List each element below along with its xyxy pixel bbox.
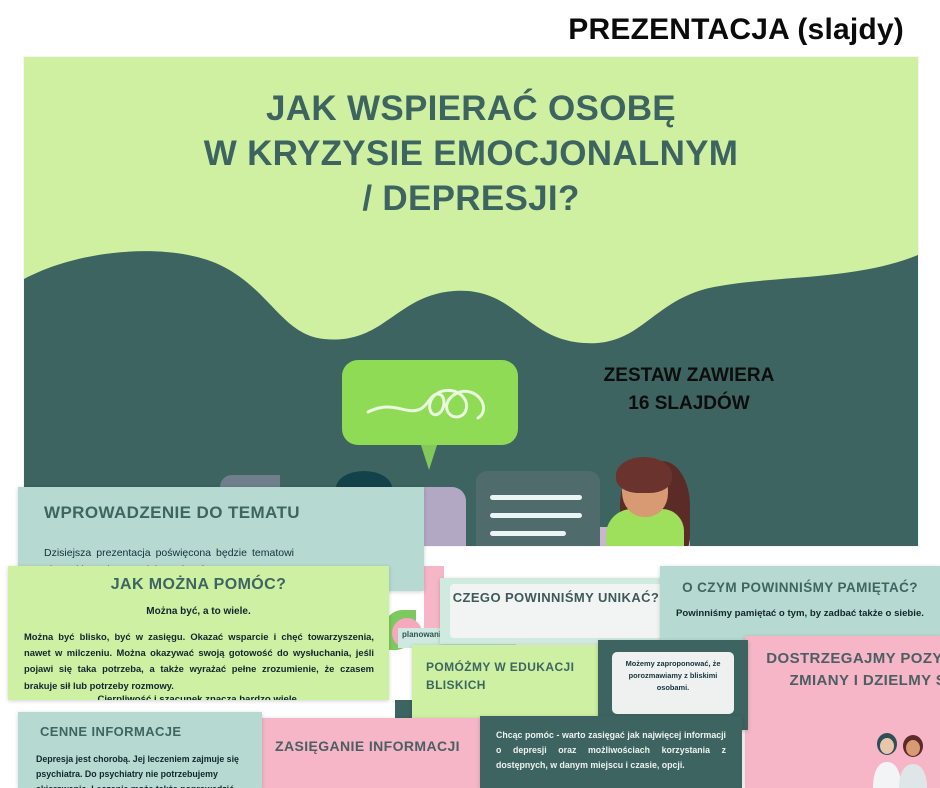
slide-card-positive-changes-title: DOSTRZEGAJMY POZYTYWNE ZMIANY I DZIELMY …: [759, 648, 940, 692]
slide-card-seeking-info-title: ZASIĘGANIE INFORMACJI: [275, 738, 460, 754]
speech-bubble-icon: [342, 360, 518, 445]
slide-card-remember[interactable]: O CZYM POWINNIŚMY PAMIĘTAĆ? Powinniśmy p…: [660, 566, 940, 640]
document-card-illustration: [476, 471, 600, 546]
two-women-illustration: [865, 728, 935, 788]
slide-card-positive-changes[interactable]: DOSTRZEGAJMY POZYTYWNE ZMIANY I DZIELMY …: [745, 636, 940, 788]
speech-bubble-tail: [420, 442, 438, 470]
slide-card-avoid-title: CZEGO POWINNIŚMY UNIKAĆ?: [440, 589, 672, 607]
slide-card-educate[interactable]: POMÓŻMY W EDUKACJI BLISKICH: [412, 645, 610, 721]
slide-card-valuable-info[interactable]: CENNE INFORMACJE Depresja jest chorobą. …: [18, 712, 262, 788]
slide-card-valuable-info-body: Depresja jest chorobą. Jej leczeniem zaj…: [36, 752, 250, 788]
main-slide-preview[interactable]: JAK WSPIERAĆ OSOBĘ W KRYZYSIE EMOCJONALN…: [24, 57, 918, 546]
slide-title-line-2: W KRYZYSIE EMOCJONALNYM: [24, 132, 918, 177]
slide-card-how-to-help-footer: Cierpliwość i szacunek znaczą bardzo wie…: [8, 694, 389, 700]
slide-card-note-text: Możemy zaproponować, że porozmawiamy z b…: [612, 658, 734, 694]
set-info-line-2: 16 SLAJDÓW: [564, 390, 814, 418]
slide-title: JAK WSPIERAĆ OSOBĘ W KRYZYSIE EMOCJONALN…: [24, 87, 918, 221]
slide-card-valuable-info-title: CENNE INFORMACJE: [40, 724, 181, 739]
set-info-line-1: ZESTAW ZAWIERA: [564, 362, 814, 390]
page-title: PREZENTACJA (slajdy): [568, 13, 904, 47]
slide-card-avoid[interactable]: CZEGO POWINNIŚMY UNIKAĆ?: [440, 578, 672, 644]
slide-title-line-3: / DEPRESJI?: [24, 177, 918, 222]
slide-card-seeking-info-body-text: Chcąc pomóc - warto zasięgać jak najwięc…: [496, 728, 726, 773]
slide-card-seeking-info-body[interactable]: Chcąc pomóc - warto zasięgać jak najwięc…: [480, 716, 742, 788]
page-header: PREZENTACJA (slajdy): [0, 4, 940, 56]
slide-card-remember-body: Powinniśmy pamiętać o tym, by zadbać tak…: [660, 608, 940, 619]
slide-card-seeking-info[interactable]: ZASIĘGANIE INFORMACJI: [255, 718, 483, 788]
slide-card-how-to-help-title: JAK MOŻNA POMÓC?: [8, 576, 389, 594]
slide-title-line-1: JAK WSPIERAĆ OSOBĘ: [24, 87, 918, 132]
slide-card-how-to-help[interactable]: JAK MOŻNA POMÓC? Można być, a to wiele. …: [8, 566, 389, 700]
set-info: ZESTAW ZAWIERA 16 SLAJDÓW: [564, 362, 814, 417]
slide-card-how-to-help-body: Można być blisko, być w zasięgu. Okazać …: [24, 629, 374, 694]
slide-card-how-to-help-subtitle: Można być, a to wiele.: [8, 606, 389, 617]
slide-card-remember-title: O CZYM POWINNIŚMY PAMIĘTAĆ?: [660, 580, 940, 595]
screenshot-stage: PREZENTACJA (slajdy) JAK WSPIERAĆ OSOBĘ …: [0, 0, 940, 788]
slide-card-educate-title: POMÓŻMY W EDUKACJI BLISKICH: [426, 658, 602, 694]
woman-hair-illustration: [616, 457, 672, 493]
slide-card-intro-title: WPROWADZENIE DO TEMATU: [44, 503, 300, 523]
